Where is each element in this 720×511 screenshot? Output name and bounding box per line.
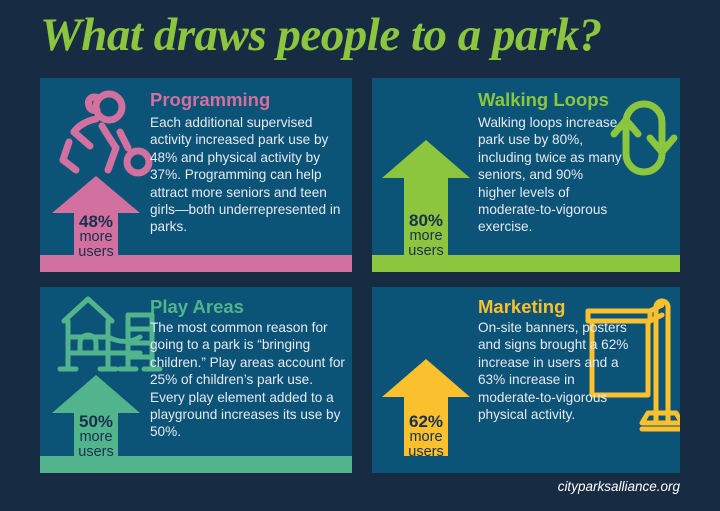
stat-users: users xyxy=(52,445,140,460)
stat-arrow-62: 62% more users xyxy=(382,359,470,456)
panel-heading: Walking Loops xyxy=(478,89,609,111)
panel-body: On-site banners, posters and signs broug… xyxy=(478,319,638,423)
panel-marketing: Marketing On-site banners, posters and s… xyxy=(372,287,680,473)
panel-heading: Marketing xyxy=(478,296,565,318)
panel-heading: Play Areas xyxy=(150,296,244,318)
page-title: What draws people to a park? xyxy=(40,8,700,68)
stat-percent: 50% xyxy=(52,413,140,430)
panel-walking-loops: Walking Loops Walking loops increase par… xyxy=(372,78,680,272)
stat-users: users xyxy=(52,245,140,260)
stat-users: users xyxy=(382,244,470,259)
stat-arrow-50: 50% more users xyxy=(52,375,140,456)
stat-percent: 62% xyxy=(382,413,470,430)
playground-icon xyxy=(54,293,164,379)
stat-more: more xyxy=(382,229,470,244)
stat-arrow-48: 48% more users xyxy=(52,176,140,255)
stat-more: more xyxy=(52,230,140,245)
stat-percent: 80% xyxy=(382,212,470,229)
panel-heading: Programming xyxy=(150,89,270,111)
panel-programming: Programming Each additional supervised a… xyxy=(40,78,352,272)
panel-play-areas: Play Areas The most common reason for go… xyxy=(40,287,352,473)
stat-label: 62% more users xyxy=(382,413,470,460)
stat-label: 80% more users xyxy=(382,212,470,259)
stat-more: more xyxy=(382,430,470,445)
panel-body: The most common reason for going to a pa… xyxy=(150,319,346,441)
stat-label: 48% more users xyxy=(52,213,140,260)
site-credit: cityparksalliance.org xyxy=(558,479,680,494)
stat-more: more xyxy=(52,430,140,445)
stat-percent: 48% xyxy=(52,213,140,230)
stat-label: 50% more users xyxy=(52,413,140,460)
stat-arrow-80: 80% more users xyxy=(382,140,470,255)
stat-users: users xyxy=(382,445,470,460)
panel-body: Each additional supervised activity incr… xyxy=(150,114,342,236)
panel-body: Walking loops increase park use by 80%, … xyxy=(478,114,624,236)
